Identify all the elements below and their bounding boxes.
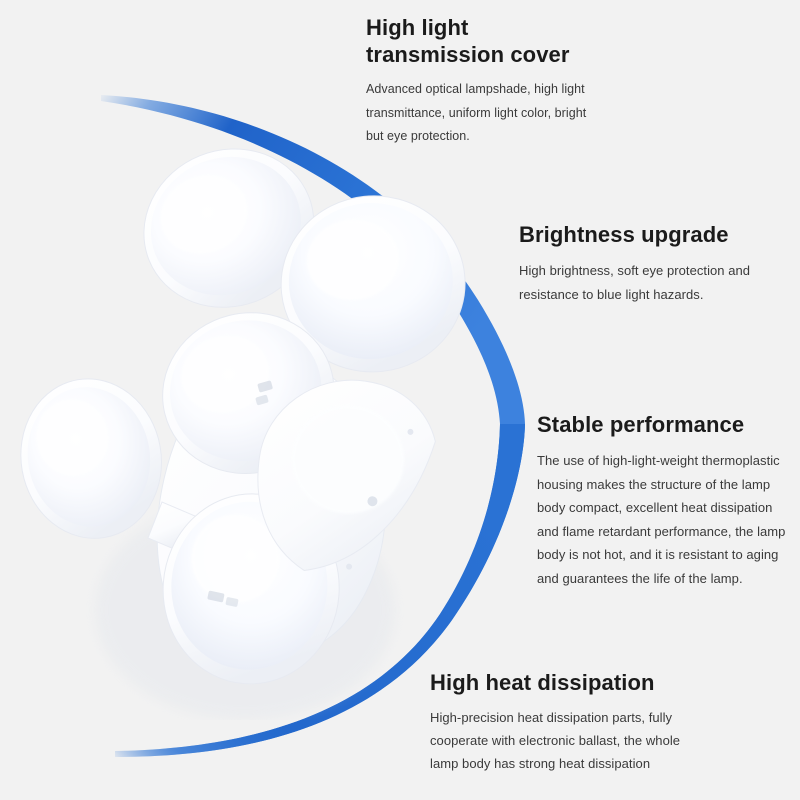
infographic-canvas: High lighttransmission cover Advanced op… xyxy=(0,0,800,800)
feature-heading-cover: High lighttransmission cover xyxy=(366,14,606,68)
product-image-folding-led-lamp xyxy=(0,140,480,720)
feature-block-heat: High heat dissipation High-precision hea… xyxy=(430,669,698,775)
feature-body-cover: Advanced optical lampshade, high light t… xyxy=(366,78,606,149)
feature-body-brightness: High brightness, soft eye protection and… xyxy=(519,259,781,306)
feature-block-cover: High lighttransmission cover Advanced op… xyxy=(366,14,606,149)
feature-heading-heat: High heat dissipation xyxy=(430,669,698,696)
feature-body-heat: High-precision heat dissipation parts, f… xyxy=(430,706,698,775)
feature-heading-cover-line2: transmission cover xyxy=(366,42,570,67)
feature-body-stable: The use of high-light-weight thermoplast… xyxy=(537,449,787,590)
feature-block-brightness: Brightness upgrade High brightness, soft… xyxy=(519,221,781,306)
feature-block-stable: Stable performance The use of high-light… xyxy=(537,411,787,590)
feature-heading-cover-line1: High light xyxy=(366,15,468,40)
feature-heading-stable: Stable performance xyxy=(537,411,787,438)
feature-heading-brightness: Brightness upgrade xyxy=(519,221,781,248)
